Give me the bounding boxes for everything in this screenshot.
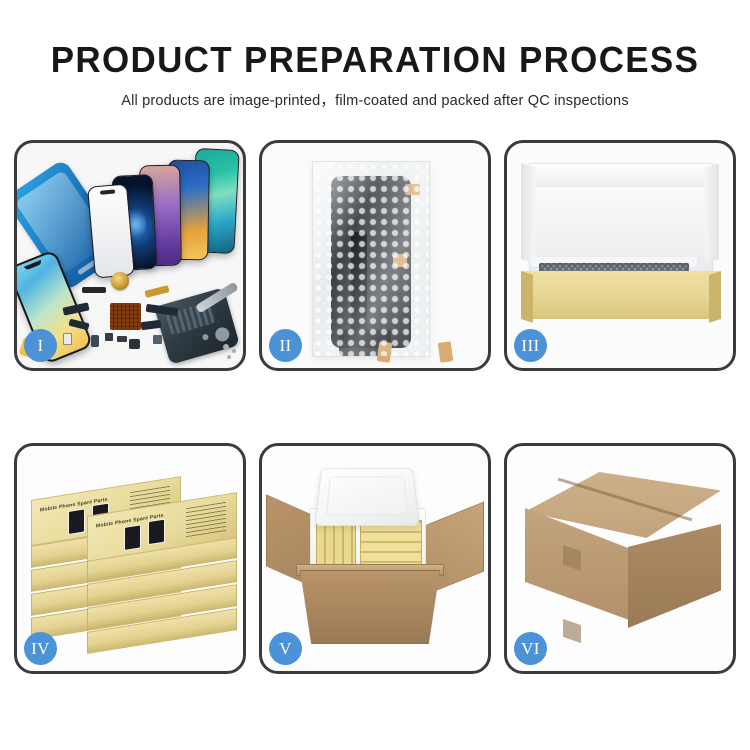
step-badge-6: VI — [514, 632, 547, 665]
product-photo-1 — [124, 524, 141, 551]
phone-backplate-icon — [154, 287, 240, 365]
product-photo-1 — [68, 508, 85, 535]
small-chip-2-icon — [117, 336, 127, 342]
carton-side-face-icon — [628, 524, 721, 628]
sim-tray-icon — [63, 333, 72, 345]
process-step-panel-5: V — [259, 443, 491, 674]
speaker-coil-icon — [111, 272, 129, 290]
yellow-box-tray-icon — [521, 271, 721, 319]
header: PRODUCT PREPARATION PROCESS All products… — [0, 0, 750, 110]
page-title: PRODUCT PREPARATION PROCESS — [11, 41, 739, 79]
lid-flap-right-icon — [705, 163, 719, 262]
gold-connector-icon — [145, 285, 170, 298]
process-step-panel-2: II — [259, 140, 491, 371]
component-block-icon — [91, 335, 99, 347]
plastic-sheen — [313, 162, 429, 356]
phone-white-icon — [87, 183, 135, 278]
tape-piece-4-icon — [438, 341, 454, 363]
process-step-panel-6: VI — [504, 443, 736, 674]
foam-lid-icon — [314, 468, 420, 526]
small-chip-3-icon — [153, 335, 162, 344]
product-preparation-infographic: PRODUCT PREPARATION PROCESS All products… — [0, 0, 750, 750]
step-badge-5: V — [269, 632, 302, 665]
screws-icon — [223, 344, 229, 350]
lid-flap-left-icon — [521, 163, 535, 262]
page-subtitle: All products are image-printed，film-coat… — [0, 89, 750, 110]
shipping-carton-icon — [300, 570, 440, 644]
step-badge-2: II — [269, 329, 302, 362]
component-bar-icon — [82, 287, 106, 293]
component-chip-icon — [129, 339, 140, 349]
process-step-panel-1: I — [14, 140, 246, 371]
process-step-panel-3: III — [504, 140, 736, 371]
step-badge-4: IV — [24, 632, 57, 665]
process-step-grid: I II — [14, 140, 736, 674]
process-step-panel-4: Mobile Phone Spare Parts Mobil — [14, 443, 246, 674]
spec-text-block — [186, 501, 226, 537]
box-stack: Mobile Phone Spare Parts Mobil — [25, 470, 241, 650]
product-photo-2 — [148, 519, 165, 546]
step-badge-3: III — [514, 329, 547, 362]
carton-tab-2-icon — [563, 619, 581, 643]
step-badge-1: I — [24, 329, 57, 362]
bubble-wrap-bag-icon — [312, 161, 430, 357]
flex-cable-4-icon — [141, 320, 162, 330]
chip-array-icon — [110, 303, 141, 330]
small-chip-1-icon — [105, 333, 113, 341]
